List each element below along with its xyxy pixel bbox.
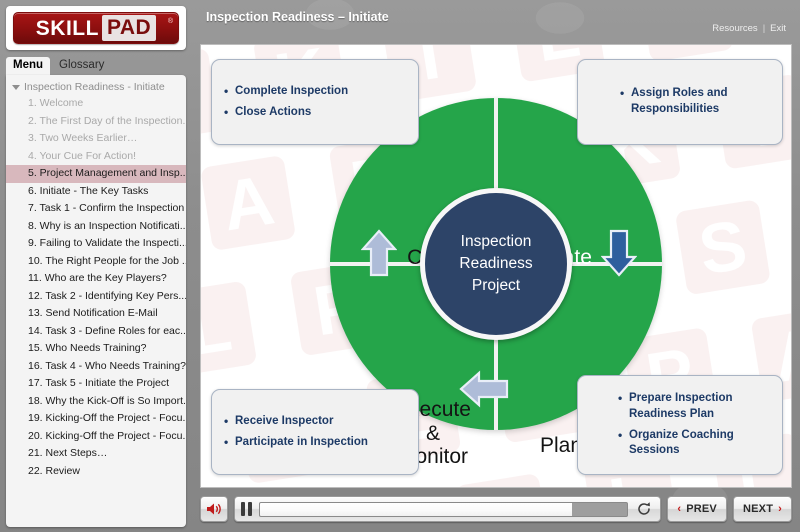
menu-item[interactable]: 16. Task 4 - Who Needs Training? bbox=[6, 358, 186, 376]
menu-item[interactable]: 21. Next Steps… bbox=[6, 445, 186, 463]
watermark-letter: I bbox=[455, 473, 551, 488]
menu-item[interactable]: 19. Kicking-Off the Project - Focu... bbox=[6, 410, 186, 428]
skillpad-logo-badge: SKILLPAD ® bbox=[13, 12, 179, 44]
media-player-bar: ‹ PREV NEXT › bbox=[200, 494, 792, 524]
list-item: Complete Inspection bbox=[224, 84, 406, 100]
hub-line-3: Project bbox=[472, 275, 520, 297]
header-links: Resources | Exit bbox=[712, 23, 786, 34]
menu-item[interactable]: 15. Who Needs Training? bbox=[6, 340, 186, 358]
menu-item[interactable]: 18. Why the Kick-Off is So Import... bbox=[6, 393, 186, 411]
menu-item[interactable]: 10. The Right People for the Job ... bbox=[6, 253, 186, 271]
list-item: Organize Coaching Sessions bbox=[618, 428, 770, 459]
menu-item[interactable]: 1. Welcome bbox=[6, 95, 186, 113]
menu-root-node[interactable]: Inspection Readiness - Initiate bbox=[6, 79, 186, 95]
replay-icon bbox=[636, 501, 652, 517]
menu-item[interactable]: 17. Task 5 - Initiate the Project bbox=[6, 375, 186, 393]
hub-line-2: Readiness bbox=[459, 253, 532, 275]
speaker-icon bbox=[206, 502, 222, 516]
list-item: Assign Roles and Responsibilities bbox=[620, 86, 770, 117]
menu-item[interactable]: 6. Initiate - The Key Tasks bbox=[6, 183, 186, 201]
header-link-separator: | bbox=[763, 23, 765, 34]
exit-link[interactable]: Exit bbox=[770, 23, 786, 34]
callout-box-bottom-right: Prepare Inspection Readiness Plan Organi… bbox=[577, 375, 783, 475]
next-button[interactable]: NEXT › bbox=[733, 496, 792, 522]
menu-root-label: Inspection Readiness - Initiate bbox=[24, 81, 165, 93]
sidebar-tabs: Menu Glossary bbox=[6, 57, 186, 75]
arrow-left-icon bbox=[459, 370, 509, 408]
prev-button-label: PREV bbox=[686, 503, 717, 515]
chevron-right-icon: › bbox=[778, 503, 782, 515]
volume-button[interactable] bbox=[200, 496, 228, 522]
list-item: Prepare Inspection Readiness Plan bbox=[618, 391, 770, 422]
header-bar: Inspection Readiness – Initiate Resource… bbox=[192, 0, 800, 46]
pause-bar-right bbox=[248, 502, 252, 516]
watermark-letter: A bbox=[200, 155, 296, 251]
menu-item[interactable]: 9. Failing to Validate the Inspecti... bbox=[6, 235, 186, 253]
page-title: Inspection Readiness – Initiate bbox=[206, 10, 389, 24]
callout-list-bottom-right: Prepare Inspection Readiness Plan Organi… bbox=[618, 386, 770, 463]
left-sidebar: SKILLPAD ® Menu Glossary Inspection Read… bbox=[0, 0, 192, 532]
callout-list-top-left: Complete Inspection Close Actions bbox=[224, 79, 406, 125]
menu-item[interactable]: 20. Kicking-Off the Project - Focu... bbox=[6, 428, 186, 446]
list-item: Close Actions bbox=[224, 105, 406, 121]
chevron-left-icon: ‹ bbox=[677, 503, 681, 515]
watermark-letter: L bbox=[200, 281, 257, 377]
progress-bar[interactable] bbox=[259, 502, 628, 517]
menu-item[interactable]: 11. Who are the Key Players? bbox=[6, 270, 186, 288]
menu-item[interactable]: 12. Task 2 - Identifying Key Pers... bbox=[6, 288, 186, 306]
slide-stage: SKILLPADSKILLPADSKILLPADSKILLP Close Ini… bbox=[200, 44, 792, 488]
pause-button[interactable] bbox=[241, 502, 252, 516]
registered-trademark-icon: ® bbox=[168, 18, 173, 25]
menu-item[interactable]: 22. Review bbox=[6, 463, 186, 481]
prev-button[interactable]: ‹ PREV bbox=[667, 496, 727, 522]
wheel-hub: Inspection Readiness Project bbox=[420, 188, 572, 340]
menu-item[interactable]: 8. Why is an Inspection Notificati... bbox=[6, 218, 186, 236]
chevron-down-icon[interactable] bbox=[12, 85, 20, 90]
menu-item-list: 1. Welcome2. The First Day of the Inspec… bbox=[6, 95, 186, 480]
list-item: Receive Inspector bbox=[224, 414, 406, 430]
callout-box-bottom-left: Receive Inspector Participate in Inspect… bbox=[211, 389, 419, 475]
application-window: SKILLPAD ® Menu Glossary Inspection Read… bbox=[0, 0, 800, 532]
transport-shell bbox=[234, 496, 661, 522]
replay-button[interactable] bbox=[635, 500, 653, 518]
tab-glossary[interactable]: Glossary bbox=[52, 57, 111, 75]
callout-box-top-left: Complete Inspection Close Actions bbox=[211, 59, 419, 145]
progress-bar-fill bbox=[260, 503, 572, 516]
menu-item[interactable]: 4. Your Cue For Action! bbox=[6, 148, 186, 166]
arrow-down-icon bbox=[601, 229, 637, 277]
callout-list-top-right: Assign Roles and Responsibilities bbox=[620, 81, 770, 122]
menu-item[interactable]: 7. Task 1 - Confirm the Inspection bbox=[6, 200, 186, 218]
menu-item[interactable]: 2. The First Day of the Inspection... bbox=[6, 113, 186, 131]
logo-text-pad: PAD bbox=[102, 15, 156, 41]
menu-item[interactable]: 5. Project Management and Insp... bbox=[6, 165, 186, 183]
logo-text-skill: SKILL bbox=[36, 18, 101, 39]
callout-list-bottom-left: Receive Inspector Participate in Inspect… bbox=[224, 409, 406, 455]
menu-item[interactable]: 13. Send Notification E-Mail bbox=[6, 305, 186, 323]
resources-link[interactable]: Resources bbox=[712, 23, 757, 34]
tab-menu[interactable]: Menu bbox=[6, 57, 50, 75]
callout-box-top-right: Assign Roles and Responsibilities bbox=[577, 59, 783, 145]
pause-bar-left bbox=[241, 502, 245, 516]
list-item: Participate in Inspection bbox=[224, 435, 406, 451]
watermark-letter: S bbox=[675, 199, 771, 295]
course-menu-panel[interactable]: Inspection Readiness - Initiate 1. Welco… bbox=[6, 75, 186, 527]
brand-logo: SKILLPAD ® bbox=[6, 6, 186, 50]
hub-line-1: Inspection bbox=[461, 231, 532, 253]
next-button-label: NEXT bbox=[743, 503, 773, 515]
arrow-up-icon bbox=[361, 229, 397, 277]
menu-item[interactable]: 3. Two Weeks Earlier… bbox=[6, 130, 186, 148]
menu-item[interactable]: 14. Task 3 - Define Roles for eac... bbox=[6, 323, 186, 341]
